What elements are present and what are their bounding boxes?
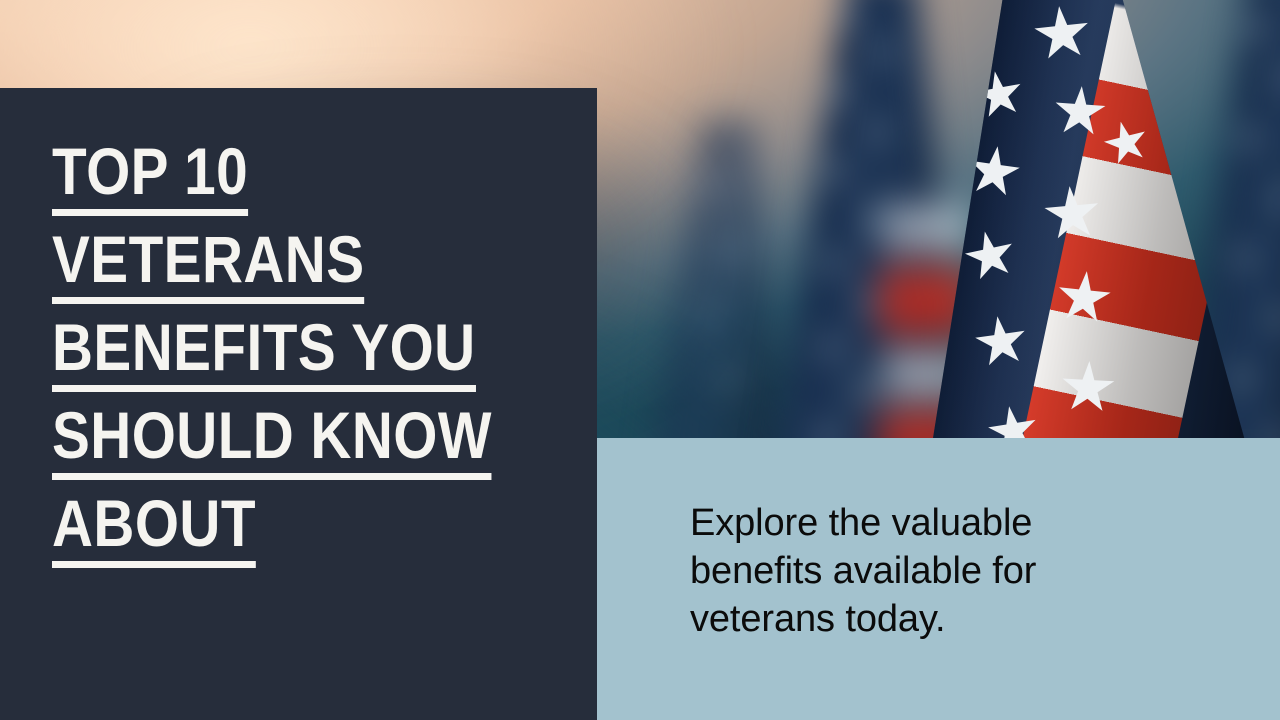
title-panel: TOP 10 VETERANS BENEFITS YOU SHOULD KNOW… [0,88,597,720]
blurred-star [867,124,884,141]
title-line-1: TOP 10 [52,140,248,216]
blurred-star [830,164,847,181]
title-line-5: ABOUT [52,492,256,568]
page-title: TOP 10 VETERANS BENEFITS YOU SHOULD KNOW… [52,140,572,580]
blurred-star [826,254,843,271]
title-line-4: SHOULD KNOW [52,404,492,480]
blurred-star [855,384,872,401]
blurred-star [721,372,738,389]
flag-body [922,0,1252,466]
title-line-2: VETERANS [52,228,365,304]
blurred-star [706,178,723,195]
subtitle-panel: Explore the valuable benefits available … [597,438,1280,720]
subtitle-text: Explore the valuable benefits available … [690,500,1160,644]
foreground-us-flag [922,0,1252,466]
blurred-star [822,339,839,356]
blurred-star [863,209,880,226]
title-line-3: BENEFITS YOU [52,316,476,392]
slide-canvas: TOP 10 VETERANS BENEFITS YOU SHOULD KNOW… [0,0,1280,720]
blurred-star [859,294,876,311]
